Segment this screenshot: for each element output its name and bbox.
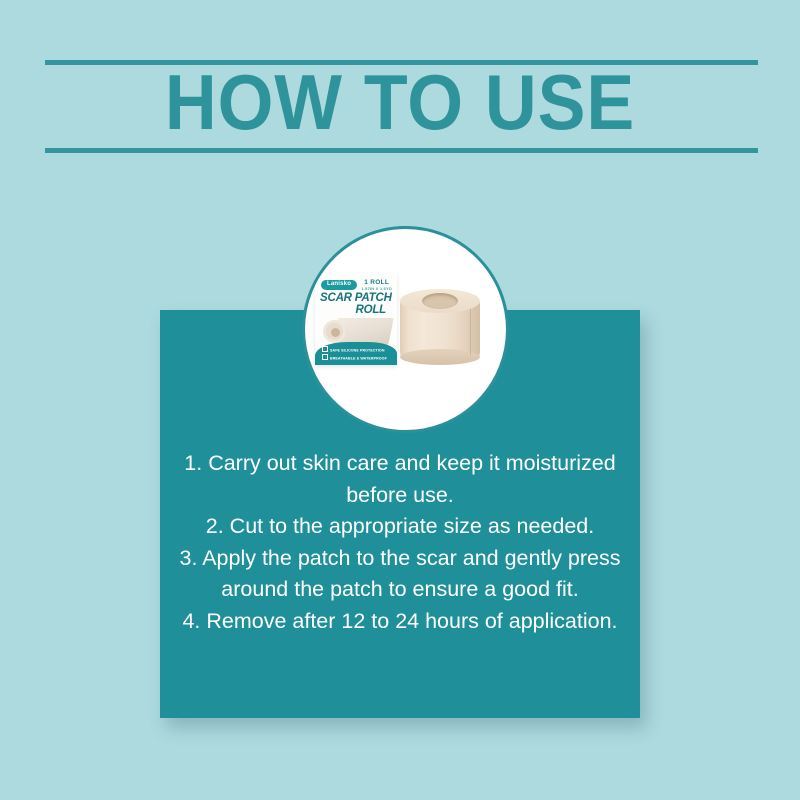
product-box-title-line1: SCAR PATCH [320,292,392,304]
box-bullet-1-label: SAFE SILICONE PROTECTION [330,349,385,353]
roll-seam [470,301,472,355]
product-box-face: Lanisko 1 ROLL 1.57IN X 1.6YD SCAR PATCH… [315,273,397,365]
box-bullet-2-label: BREATHABLE & WATERPROOF [330,356,387,360]
page-title: HOW TO USE [32,58,768,146]
box-bullet-2: BREATHABLE & WATERPROOF [322,354,387,362]
quantity-badge-main: 1 ROLL [361,279,392,286]
brand-logo: Lanisko [321,280,357,290]
roll-center-hole [422,293,458,309]
silicone-tape-roll [400,289,480,365]
quantity-badge-sub: 1.57IN X 1.6YD [361,286,392,291]
title-rule-bottom [45,148,758,153]
roll-bottom-edge [400,349,480,365]
box-bullet-1: SAFE SILICONE PROTECTION [322,346,387,354]
instructions-list: 1. Carry out skin care and keep it moist… [175,448,625,637]
product-box-title: SCAR PATCH ROLL [320,292,392,316]
product-box: Lanisko 1 ROLL 1.57IN X 1.6YD SCAR PATCH… [315,273,397,365]
instruction-step-4: 4. Remove after 12 to 24 hours of applic… [175,606,625,638]
quantity-badge: 1 ROLL 1.57IN X 1.6YD [361,279,392,291]
roll-top-face [400,289,480,313]
box-photo-roll-core [323,320,346,343]
infographic-page: HOW TO USE 1. Carry out skin care and ke… [0,0,800,800]
instruction-step-2: 2. Cut to the appropriate size as needed… [175,511,625,543]
product-image: Lanisko 1 ROLL 1.57IN X 1.6YD SCAR PATCH… [305,229,506,430]
instruction-step-1: 1. Carry out skin care and keep it moist… [175,448,625,511]
check-icon [322,346,328,352]
box-feature-bullets: SAFE SILICONE PROTECTION BREATHABLE & WA… [322,346,387,361]
instruction-step-3: 3. Apply the patch to the scar and gentl… [175,543,625,606]
product-image-circle: Lanisko 1 ROLL 1.57IN X 1.6YD SCAR PATCH… [302,226,509,433]
check-icon [322,354,328,360]
